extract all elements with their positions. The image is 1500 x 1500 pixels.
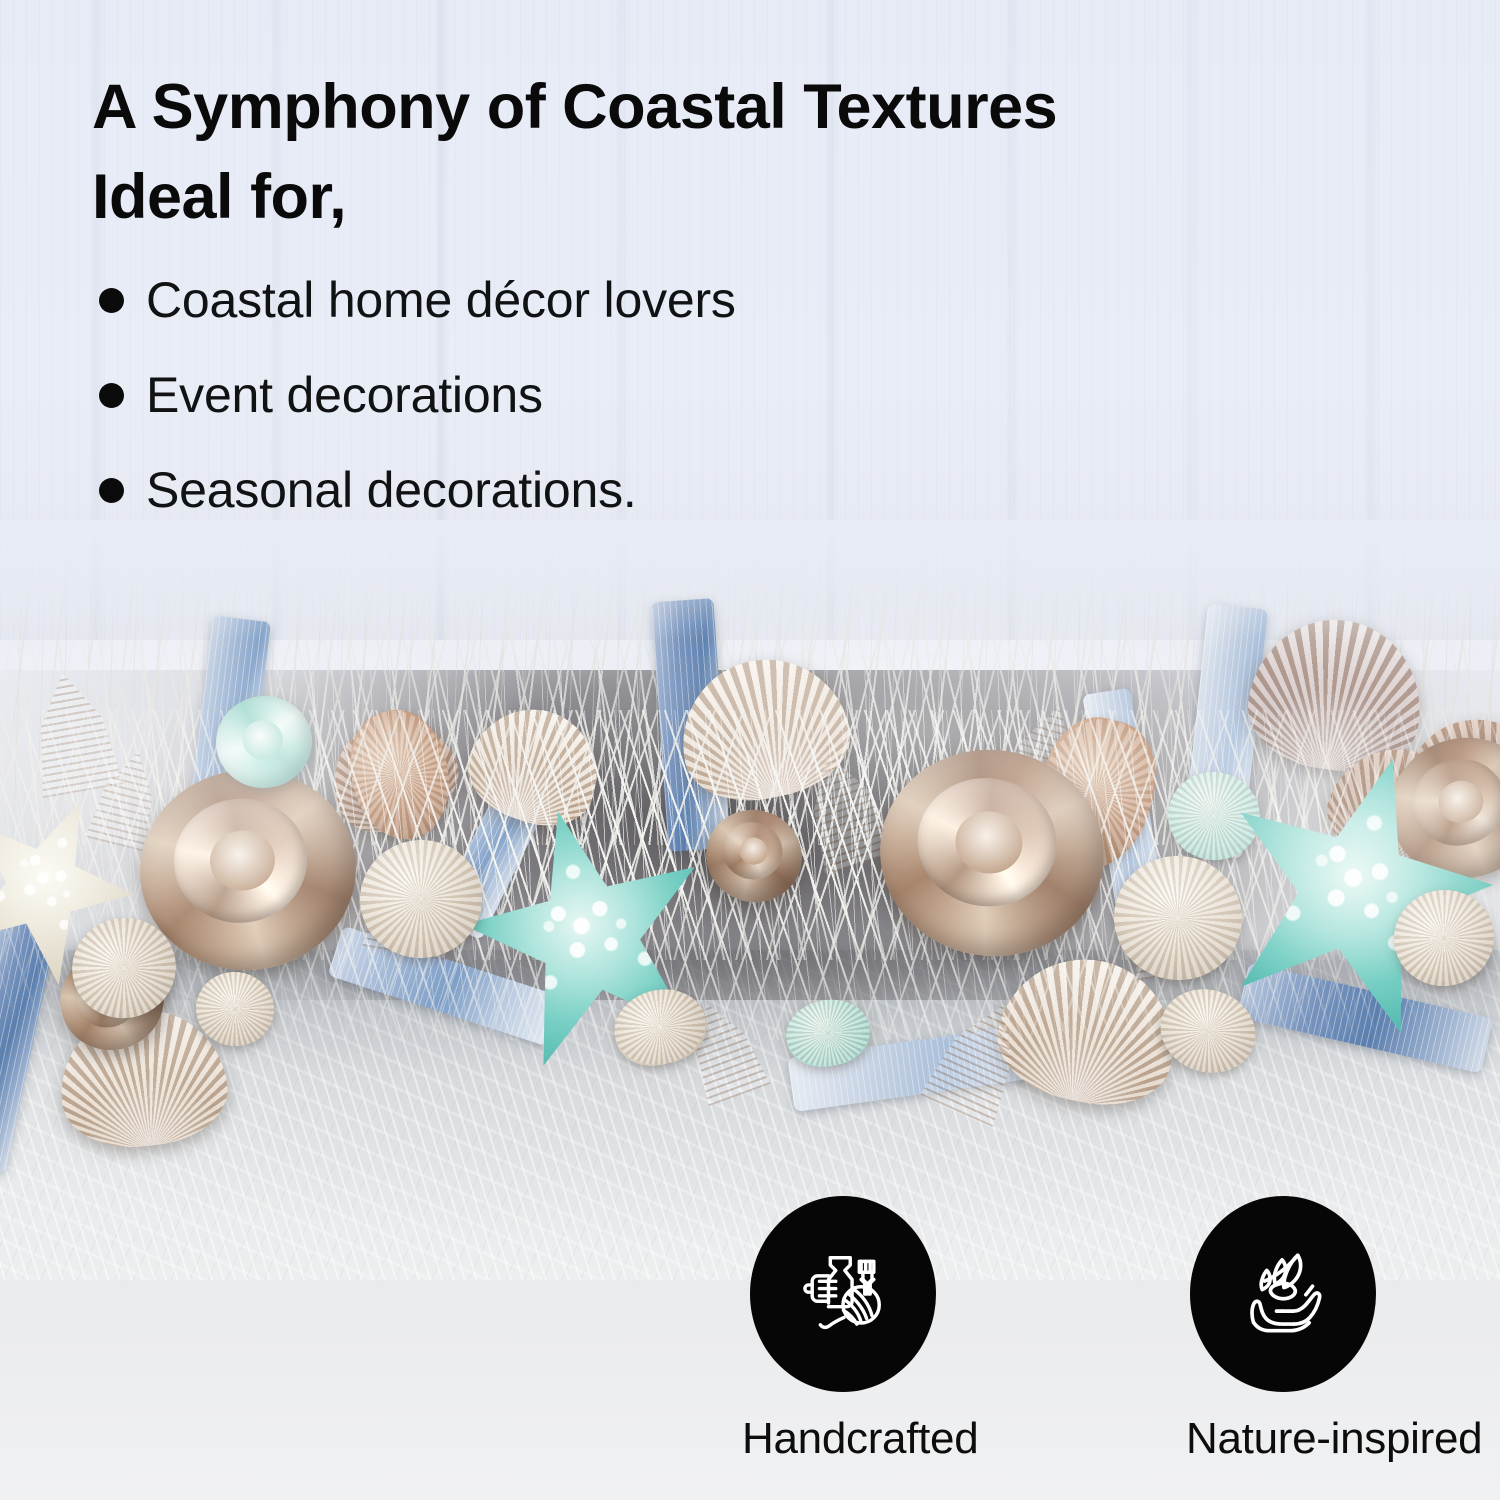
bullet-label: Coastal home décor lovers [146,268,736,332]
trust-badge-row: Handcrafted [0,1196,1500,1496]
product-lifestyle-infographic: A Symphony of Coastal Textures Ideal for… [0,0,1500,1500]
badge-circle [750,1196,936,1392]
bullet-dot-icon [99,383,124,408]
handcrafted-pottery-brush-yarn-icon [785,1236,901,1352]
list-item: Event decorations [96,363,1196,458]
product-photo-garland [0,520,1500,1280]
list-item: Coastal home décor lovers [96,268,1196,363]
benefit-bullet-list: Coastal home décor lovers Event decorati… [96,268,1196,553]
badge-label: Handcrafted [742,1414,938,1464]
headline-line-2: Ideal for, [92,162,346,232]
bullet-label: Seasonal decorations. [146,458,637,522]
bullet-dot-icon [99,478,124,503]
badge-label: Nature-inspired [1186,1414,1378,1464]
photo-top-blend [0,520,1500,640]
page-title: A Symphony of Coastal Textures Ideal for… [92,62,1292,242]
bullet-label: Event decorations [146,363,543,427]
badge-handcrafted: Handcrafted [748,1196,938,1464]
badge-nature-inspired: Nature-inspired [1188,1196,1378,1464]
bullet-dot-icon [99,288,124,313]
badge-circle [1190,1196,1376,1392]
hand-holding-leaves-icon [1224,1235,1342,1353]
headline-line-1: A Symphony of Coastal Textures [92,72,1057,142]
